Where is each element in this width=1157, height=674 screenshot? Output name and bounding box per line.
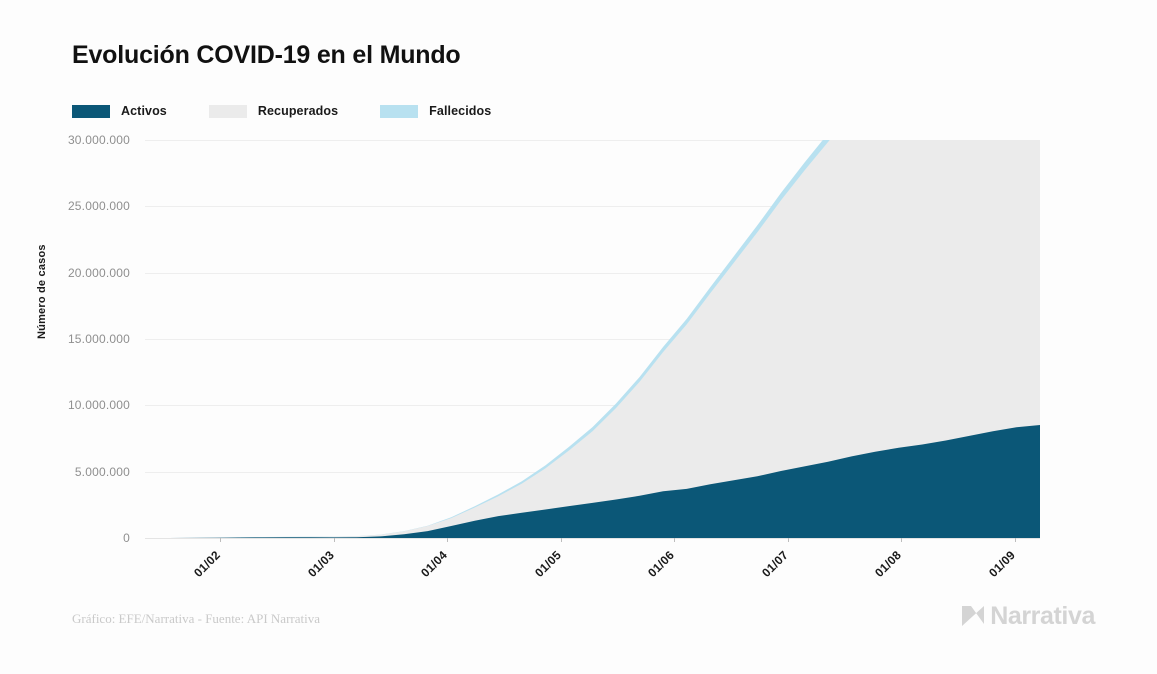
y-axis-title: Número de casos: [36, 244, 48, 339]
x-tick-mark: [220, 538, 221, 542]
legend-label-fallecidos: Fallecidos: [429, 104, 491, 118]
brand-name: Narrativa: [990, 604, 1095, 629]
x-tick-label: 01/02: [191, 548, 223, 580]
x-tick-mark: [447, 538, 448, 542]
legend-swatch-recuperados: [209, 105, 247, 118]
y-tick-label: 0: [123, 531, 130, 545]
plot-area: [145, 140, 1040, 538]
y-tick-label: 20.000.000: [68, 266, 130, 280]
x-tick-label: 01/08: [873, 548, 905, 580]
legend-label-recuperados: Recuperados: [258, 104, 338, 118]
chart-legend: Activos Recuperados Fallecidos: [72, 103, 533, 119]
x-tick-label: 01/09: [986, 548, 1018, 580]
y-tick-label: 30.000.000: [68, 133, 130, 147]
x-tick-mark: [1015, 538, 1016, 542]
chart-page: Evolución COVID-19 en el Mundo Activos R…: [0, 0, 1157, 674]
page-title: Evolución COVID-19 en el Mundo: [72, 41, 460, 70]
x-tick-label: 01/07: [759, 548, 791, 580]
x-tick-mark: [334, 538, 335, 542]
legend-item-recuperados[interactable]: Recuperados: [209, 104, 338, 118]
y-tick-label: 10.000.000: [68, 398, 130, 412]
area-series-group: [145, 140, 1040, 538]
stacked-area-plot: [145, 140, 1040, 538]
legend-swatch-activos: [72, 105, 110, 118]
legend-swatch-fallecidos: [380, 105, 418, 118]
x-tick-label: 01/06: [645, 548, 677, 580]
legend-item-activos[interactable]: Activos: [72, 104, 167, 118]
y-tick-label: 5.000.000: [75, 465, 130, 479]
x-tick-mark: [561, 538, 562, 542]
x-axis: 01/0201/0301/0401/0501/0601/0701/0801/09: [145, 538, 1040, 598]
x-tick-label: 01/04: [418, 548, 450, 580]
footer-credit: Gráfico: EFE/Narrativa - Fuente: API Nar…: [72, 611, 320, 627]
legend-item-fallecidos[interactable]: Fallecidos: [380, 104, 491, 118]
x-tick-mark: [788, 538, 789, 542]
x-tick-mark: [674, 538, 675, 542]
narrativa-mark-icon: [960, 604, 986, 628]
x-tick-mark: [901, 538, 902, 542]
y-tick-label: 15.000.000: [68, 332, 130, 346]
y-axis: 30.000.00025.000.00020.000.00015.000.000…: [0, 140, 138, 538]
legend-label-activos: Activos: [121, 104, 167, 118]
x-tick-label: 01/03: [305, 548, 337, 580]
x-tick-label: 01/05: [532, 548, 564, 580]
y-tick-label: 25.000.000: [68, 199, 130, 213]
brand-logo: Narrativa: [960, 601, 1095, 631]
